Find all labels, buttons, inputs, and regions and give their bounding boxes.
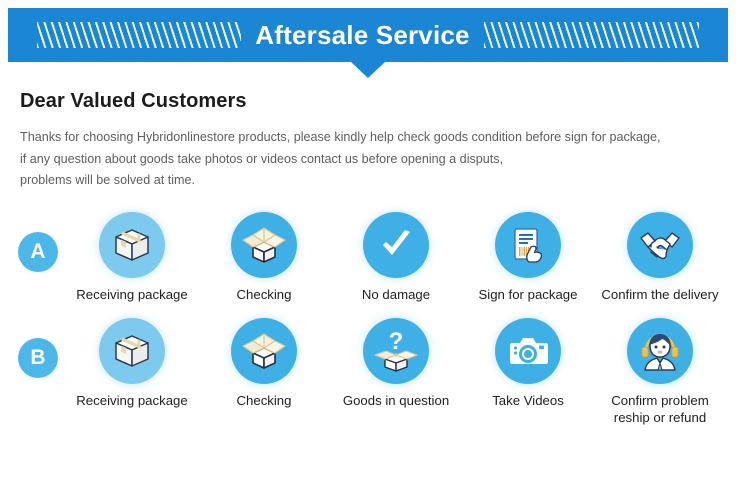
step-sign-for-package-a: Sign for package [462, 212, 594, 304]
step-label: Goods in question [343, 393, 449, 410]
intro-section: Dear Valued Customers Thanks for choosin… [0, 62, 736, 192]
banner-title: Aftersale Service [255, 20, 469, 51]
step-no-damage-a: No damage [330, 212, 462, 304]
step-label: Sign for package [479, 287, 578, 304]
step-label: Confirm problem reship or refund [611, 393, 708, 427]
step-confirm-problem-b: Confirm problem reship or refund [594, 318, 726, 427]
step-receiving-package-a: Receiving package [66, 212, 198, 304]
closed-box-icon [99, 318, 165, 384]
step-take-videos-b: Take Videos [462, 318, 594, 427]
checkmark-icon [363, 212, 429, 278]
process-row-a: A Receiving package [0, 212, 736, 304]
step-receiving-package-b: Receiving package [66, 318, 198, 427]
process-rows: A Receiving package [0, 212, 736, 427]
handshake-icon [627, 212, 693, 278]
header-banner: Aftersale Service [0, 0, 736, 62]
step-label: Take Videos [492, 393, 564, 410]
step-label: Confirm the delivery [601, 287, 718, 304]
intro-line-3: problems will be solved at time. [20, 170, 736, 192]
row-badge-b: B [18, 338, 58, 378]
step-label: Checking [237, 393, 292, 410]
row-b-steps: Receiving package Checking [66, 318, 736, 427]
step-label: Checking [237, 287, 292, 304]
intro-line-1: Thanks for choosing Hybridonlinestore pr… [20, 127, 736, 149]
row-a-steps: Receiving package Checking [66, 212, 736, 304]
intro-line-2: if any question about goods take photos … [20, 149, 736, 171]
step-confirm-delivery-a: Confirm the delivery [594, 212, 726, 304]
intro-title: Dear Valued Customers [20, 90, 736, 113]
step-goods-in-question-b: ? Goods in question [330, 318, 462, 427]
sign-document-hand-icon [495, 212, 561, 278]
open-box-icon [231, 318, 297, 384]
svg-text:?: ? [389, 328, 404, 355]
step-label: Receiving package [76, 393, 187, 410]
process-row-b: B Receiving package [0, 318, 736, 427]
banner-notch-icon [351, 62, 385, 78]
row-badge-a: A [18, 232, 58, 272]
row-b-badge-cell: B [10, 318, 66, 378]
step-label: No damage [362, 287, 430, 304]
step-checking-a: Checking [198, 212, 330, 304]
banner-bar: Aftersale Service [8, 8, 728, 62]
hatch-stripes-left-icon [37, 22, 241, 48]
step-label: Receiving package [76, 287, 187, 304]
camera-icon [495, 318, 561, 384]
question-box-icon: ? [363, 318, 429, 384]
row-a-badge-cell: A [10, 212, 66, 272]
closed-box-icon [99, 212, 165, 278]
support-agent-icon [627, 318, 693, 384]
hatch-stripes-right-icon [484, 22, 699, 48]
step-checking-b: Checking [198, 318, 330, 427]
open-box-icon [231, 212, 297, 278]
